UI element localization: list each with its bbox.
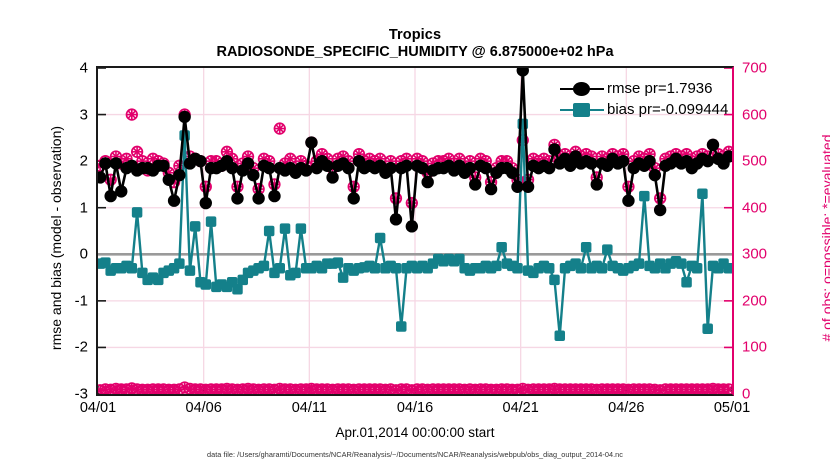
rmse-point — [622, 195, 634, 207]
rmse-point — [231, 192, 243, 204]
rmse-point — [104, 190, 116, 202]
y-tick-left-0: 0 — [48, 246, 88, 263]
y-tick-left--2: -2 — [48, 339, 88, 356]
rmse-point — [707, 139, 719, 151]
rmse-point — [157, 160, 169, 172]
obs-marker — [127, 109, 138, 120]
bias-point — [290, 268, 301, 279]
y-axis-left-label-wrap: rmse and bias (model - observation) — [10, 70, 44, 390]
bias-point — [512, 263, 523, 274]
bias-point — [127, 263, 137, 274]
rmse-point — [522, 181, 534, 193]
y-tick-right-100: 100 — [742, 339, 790, 356]
bias-point — [702, 324, 713, 335]
chart-title-sub: RADIOSONDE_SPECIFIC_HUMIDITY @ 6.875000e… — [0, 44, 830, 60]
rmse-point — [543, 162, 555, 174]
rmse-point — [654, 204, 666, 216]
bias-point — [370, 263, 381, 274]
obs-marker — [274, 123, 285, 134]
rmse-point — [163, 174, 175, 186]
bias-point — [333, 257, 344, 268]
x-tick-04/16: 04/16 — [397, 400, 433, 416]
bias-point — [692, 263, 703, 274]
bias-point — [555, 331, 566, 342]
rmse-point — [390, 213, 402, 225]
legend-item-bias[interactable]: bias pr=-0.099444 — [560, 99, 728, 120]
bias-point — [190, 221, 201, 232]
x-tick-04/06: 04/06 — [186, 400, 222, 416]
legend-item-rmse[interactable]: rmse pr=1.7936 — [560, 78, 728, 99]
rmse-point — [464, 162, 476, 174]
chart-title-main: Tropics — [0, 27, 830, 43]
y-tick-right-300: 300 — [742, 246, 790, 263]
x-tick-05/01: 05/01 — [714, 400, 750, 416]
y-tick-left-4: 4 — [48, 60, 88, 77]
bias-point — [602, 244, 613, 255]
rmse-point — [342, 162, 354, 174]
bias-point — [296, 223, 307, 234]
bias-point — [201, 279, 212, 290]
bias-point — [375, 233, 386, 244]
rmse-point — [348, 192, 360, 204]
rmse-point — [110, 157, 122, 169]
chart-page: Tropics RADIOSONDE_SPECIFIC_HUMIDITY @ 6… — [0, 0, 830, 470]
bias-point — [681, 277, 692, 288]
x-tick-04/01: 04/01 — [80, 400, 116, 416]
bias-point — [232, 284, 243, 295]
rmse-point — [226, 162, 238, 174]
rmse-point — [242, 157, 254, 169]
bias-point — [639, 191, 650, 202]
rmse-point — [300, 164, 312, 176]
rmse-point — [485, 183, 497, 195]
rmse-point — [268, 190, 280, 202]
bias-point — [496, 242, 507, 253]
rmse-point — [469, 178, 481, 190]
y-tick-left-1: 1 — [48, 199, 88, 216]
y-tick-right-200: 200 — [742, 292, 790, 309]
bias-point — [597, 263, 608, 274]
legend-marker-bias — [560, 101, 604, 119]
bias-point — [544, 263, 555, 274]
y-tick-right-600: 600 — [742, 106, 790, 123]
rmse-point — [115, 185, 127, 197]
y-tick-left-2: 2 — [48, 153, 88, 170]
legend-marker-rmse — [560, 80, 604, 98]
rmse-point — [384, 162, 396, 174]
rmse-point — [517, 68, 529, 77]
bias-point — [491, 261, 502, 272]
bias-point — [174, 258, 185, 269]
y-tick-left-3: 3 — [48, 106, 88, 123]
y-tick-right-700: 700 — [742, 60, 790, 77]
rmse-point — [421, 176, 433, 188]
rmse-point — [643, 155, 655, 167]
legend-label-bias: bias pr=-0.099444 — [607, 101, 728, 118]
rmse-point — [194, 155, 206, 167]
bias-point — [206, 216, 217, 227]
bias-point — [396, 321, 407, 332]
rmse-point — [591, 178, 603, 190]
bias-point — [549, 275, 560, 286]
rmse-point — [406, 220, 418, 232]
rmse-point — [649, 169, 661, 181]
rmse-point — [173, 169, 185, 181]
bias-point — [724, 263, 732, 274]
rmse-point — [99, 157, 111, 169]
rmse-point — [400, 160, 412, 172]
rmse-point — [321, 160, 333, 172]
x-tick-04/11: 04/11 — [292, 400, 327, 416]
y-axis-right-label: # of obs: o=possible; *=evaluated — [819, 88, 830, 388]
rmse-point — [511, 181, 523, 193]
rmse-point — [263, 162, 275, 174]
rmse-point — [168, 195, 180, 207]
rmse-point — [252, 192, 264, 204]
bias-point — [676, 258, 687, 269]
rmse-point — [247, 169, 259, 181]
y-tick-left--1: -1 — [48, 292, 88, 309]
rmse-point — [617, 155, 629, 167]
x-tick-04/26: 04/26 — [608, 400, 644, 416]
y-tick-right-500: 500 — [742, 153, 790, 170]
bias-point — [274, 263, 285, 274]
x-tick-04/21: 04/21 — [503, 400, 539, 416]
x-axis-label: Apr.01,2014 00:00:00 start — [0, 425, 830, 440]
rmse-point — [326, 171, 338, 183]
data-file-footer: data file: /Users/gharamti/Documents/NCA… — [0, 450, 830, 459]
bias-point — [576, 263, 587, 274]
bias-point — [132, 207, 143, 218]
obs-marker — [407, 198, 418, 209]
bias-point — [185, 265, 196, 276]
legend-label-rmse: rmse pr=1.7936 — [607, 80, 712, 97]
rmse-point — [701, 155, 713, 167]
rmse-point — [480, 162, 492, 174]
bias-point — [697, 188, 708, 199]
rmse-point — [305, 136, 317, 148]
bias-point — [581, 242, 592, 253]
rmse-point — [416, 162, 428, 174]
bias-point — [280, 223, 291, 234]
bias-point — [454, 254, 465, 265]
rmse-point — [178, 111, 190, 123]
bias-point — [259, 261, 270, 272]
bias-point — [264, 226, 275, 237]
rmse-point — [548, 143, 560, 155]
rmse-point — [585, 157, 597, 169]
y-tick-right-400: 400 — [742, 199, 790, 216]
rmse-point — [200, 197, 212, 209]
chart-legend: rmse pr=1.7936 bias pr=-0.099444 — [560, 78, 728, 120]
y-axis-right-label-wrap: # of obs: o=possible; *=evaluated — [790, 70, 824, 390]
bias-point — [391, 263, 402, 274]
rmse-point — [506, 167, 518, 179]
bias-point — [338, 272, 349, 283]
bias-point — [634, 258, 645, 269]
